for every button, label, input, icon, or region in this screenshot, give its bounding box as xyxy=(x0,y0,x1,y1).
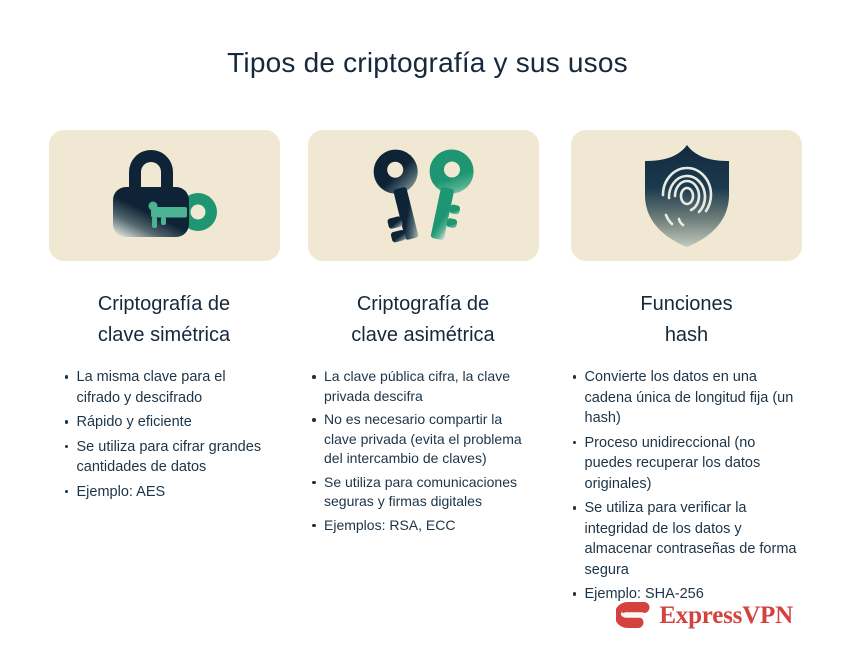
list-item: Ejemplos: RSA, ECC xyxy=(310,516,536,536)
expressvpn-e-mark-icon xyxy=(616,601,650,629)
bullet-list-hash: Convierte los datos en una cadena única … xyxy=(571,367,803,609)
columns-container: Criptografía de clave simétrica La misma… xyxy=(0,130,855,609)
list-item: Se utiliza para comunicaciones seguras y… xyxy=(310,473,536,512)
column-heading-symmetric: Criptografía de clave simétrica xyxy=(49,289,280,351)
list-item: La clave pública cifra, la clave privada… xyxy=(310,367,536,406)
expressvpn-wordmark: ExpressVPN xyxy=(659,603,793,628)
padlock-with-key-icon xyxy=(99,144,229,248)
column-heading-asymmetric: Criptografía de clave asimétrica xyxy=(308,289,539,351)
list-item: Se utiliza para cifrar grandes cantidade… xyxy=(63,437,266,478)
list-item: Proceso unidireccional (no puedes recupe… xyxy=(571,433,803,495)
bullet-list-symmetric: La misma clave para el cifrado y descifr… xyxy=(63,367,266,506)
bullet-list-asymmetric: La clave pública cifra, la clave privada… xyxy=(310,367,536,539)
column-heading-hash: Funciones hash xyxy=(567,289,807,351)
icon-card-hash xyxy=(571,130,802,261)
icon-card-symmetric xyxy=(49,130,280,261)
icon-card-asymmetric xyxy=(308,130,539,261)
shield-fingerprint-icon xyxy=(639,143,735,249)
list-item: Se utiliza para verificar la integridad … xyxy=(571,498,803,580)
list-item: Convierte los datos en una cadena única … xyxy=(571,367,803,429)
list-item: La misma clave para el cifrado y descifr… xyxy=(63,367,266,408)
column-asymmetric-cryptography: Criptografía de clave asimétrica La clav… xyxy=(308,130,539,609)
expressvpn-logo: ExpressVPN xyxy=(616,601,793,629)
list-item: Ejemplo: AES xyxy=(63,482,266,503)
infographic-page: Tipos de criptografía y sus usos xyxy=(0,0,855,657)
column-hash-functions: Funciones hash Convierte los datos en un… xyxy=(567,130,807,609)
column-symmetric-cryptography: Criptografía de clave simétrica La misma… xyxy=(49,130,280,609)
list-item: No es necesario compartir la clave priva… xyxy=(310,410,536,469)
page-title: Tipos de criptografía y sus usos xyxy=(0,47,855,79)
list-item: Rápido y eficiente xyxy=(63,412,266,433)
two-keys-icon xyxy=(363,143,483,248)
